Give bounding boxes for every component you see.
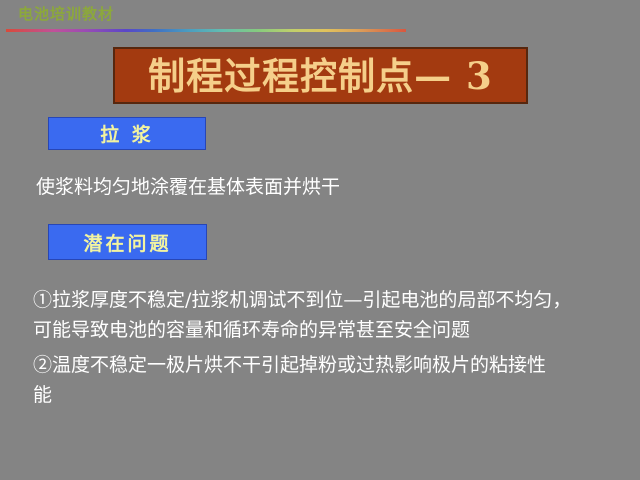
course-header-label: 电池培训教材 bbox=[18, 5, 114, 24]
issues-list: ①拉浆厚度不稳定/拉浆机调试不到位—引起电池的局部不均匀， 可能导致电池的容量和… bbox=[33, 285, 633, 410]
section-heading-box-coating: 拉 浆 bbox=[48, 117, 206, 150]
section-heading-label-potential-issues: 潜在问题 bbox=[83, 229, 171, 256]
slide-canvas: 电池培训教材 制程过程控制点— 3 拉 浆 使浆料均匀地涂覆在基体表面并烘干 潜… bbox=[0, 0, 640, 480]
issue-item-2-line-2: 能 bbox=[33, 380, 633, 410]
section-heading-label-coating: 拉 浆 bbox=[100, 120, 154, 147]
rainbow-divider bbox=[6, 29, 406, 32]
section-heading-box-potential-issues: 潜在问题 bbox=[48, 224, 207, 260]
issue-item-1-line-1: ①拉浆厚度不稳定/拉浆机调试不到位—引起电池的局部不均匀， bbox=[33, 285, 633, 315]
slide-title-box: 制程过程控制点— 3 bbox=[113, 47, 528, 104]
issue-item-2-line-1: ②温度不稳定一极片烘不干引起掉粉或过热影响极片的粘接性 bbox=[33, 350, 633, 380]
slide-title-text: 制程过程控制点— 3 bbox=[148, 56, 493, 96]
issue-item-1-line-2: 可能导致电池的容量和循环寿命的异常甚至安全问题 bbox=[33, 315, 633, 345]
section-description-coating: 使浆料均匀地涂覆在基体表面并烘干 bbox=[36, 172, 340, 202]
